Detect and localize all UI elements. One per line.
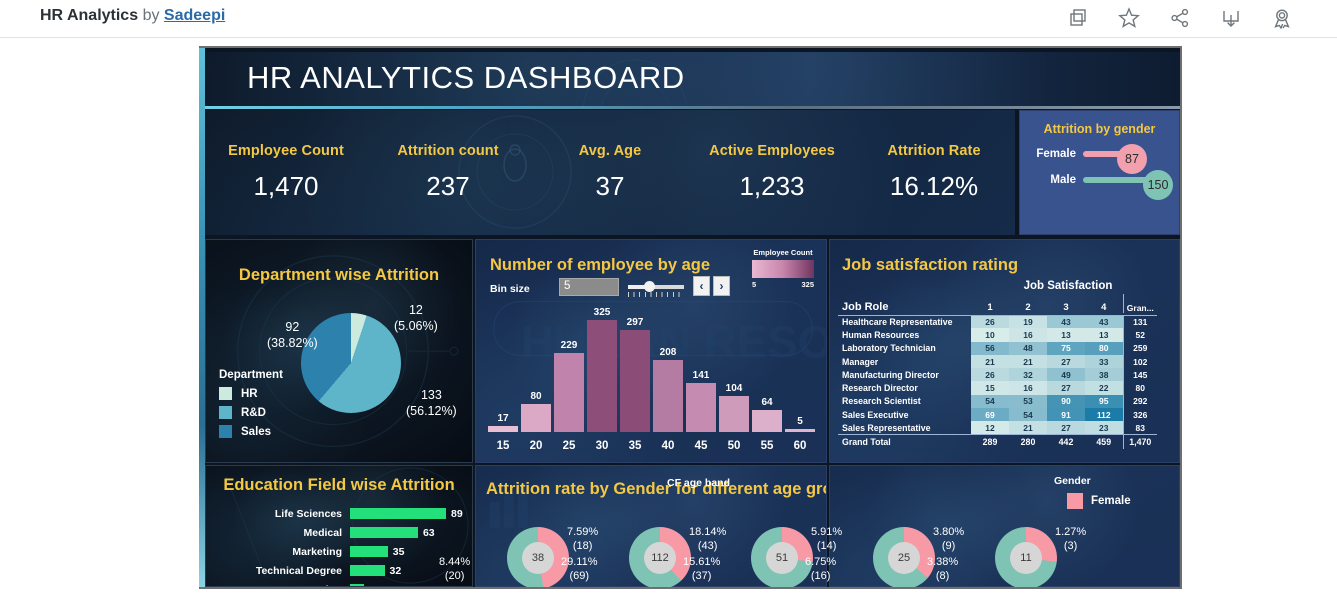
education-field-panel: Education Field wise Attrition Life Scie… [205,465,473,587]
kpi-value: 37 [596,171,625,202]
cell-score: 16 [1009,328,1047,341]
table-header-row: Job Role1234Gran... [838,294,1157,313]
education-value: 32 [390,565,402,577]
donuts-panel-title: Attrition rate by Gender for different a… [486,480,827,499]
employee-by-age-panel: HUMAN RESOURCES Number of employee by ag… [475,239,827,463]
legend-label: HR [241,388,258,400]
education-value: 63 [423,527,435,539]
education-label: Other [206,584,350,588]
cell-row-total: 145 [1123,368,1157,381]
bar-column[interactable]: 5 [785,416,815,432]
job-satisfaction-subtitle: Job Satisfaction [968,280,1168,292]
legend-item-hr[interactable]: HR [219,387,283,400]
gender-label: Male [1032,174,1076,186]
cell-score: 23 [1085,421,1123,434]
col-score-1: 1 [971,294,1009,313]
bar-x-label: 50 [719,440,749,452]
kpi-band: Employee Count 1,470 Attrition count 237… [205,110,1015,235]
kpi-avg-age: Avg. Age 37 [529,110,691,235]
bar-value-label: 141 [693,370,710,381]
prev-button[interactable]: ‹ [693,276,710,296]
dashboard-title: HR ANALYTICS DASHBOARD [247,60,685,96]
cell-score: 80 [1085,342,1123,355]
kpi-attrition-rate: Attrition Rate 16.12% [853,110,1015,235]
kpi-label: Employee Count [228,143,344,159]
bar-rect[interactable] [587,320,617,432]
bin-size-label: Bin size [490,283,530,295]
department-panel-title: Department wise Attrition [206,266,472,285]
cell-score: 49 [1047,368,1085,381]
cell-score: 43 [1085,315,1123,328]
table-row[interactable]: Laboratory Technician56487580259 [838,342,1157,355]
cell-score: 48 [1009,342,1047,355]
bar-column[interactable]: 208 [653,347,683,432]
education-value: 35 [393,546,405,558]
age-bar-chart[interactable]: 1715802022925325302973520840141451045064… [488,302,818,454]
cell-score: 54 [971,395,1009,408]
gender-legend-female[interactable]: Female [1067,493,1131,509]
table-row[interactable]: Healthcare Representative26194343131 [838,315,1157,328]
attrition-by-gender-card: Attrition by gender Female 87 Male 150 [1019,110,1180,235]
cell-row-total: 292 [1123,395,1157,408]
table-row[interactable]: Manufacturing Director26324938145 [838,368,1157,381]
pie-callout-hr: 12 (5.06%) [394,303,438,334]
education-row[interactable]: Medical63 [206,523,472,542]
bin-size-input[interactable]: 5 [559,278,619,296]
cell-score: 12 [971,421,1009,434]
slider-thumb[interactable] [644,281,655,292]
gender-value-bubble: 150 [1143,170,1173,200]
bar-column[interactable]: 104 [719,383,749,432]
bar-value-label: 297 [627,317,644,328]
cell-job-role: Grand Total [838,435,971,449]
cell-score: 43 [1047,315,1085,328]
table-grand-total-row: Grand Total2892804424591,470 [838,435,1157,449]
bar-column[interactable]: 17 [488,413,518,432]
bar-x-label: 55 [752,440,782,452]
next-button[interactable]: › [713,276,730,296]
star-icon[interactable] [1114,3,1144,33]
cell-score: 53 [1009,395,1047,408]
education-bar[interactable] [350,565,385,576]
cell-score: 26 [971,315,1009,328]
legend-item-rd[interactable]: R&D [219,406,283,419]
employee-count-legend: Employee Count 5 325 [748,248,818,289]
bin-size-slider[interactable] [628,279,684,295]
cell-score: 54 [1009,408,1047,421]
cell-score: 33 [1085,355,1123,368]
table-row[interactable]: Sales Representative1221272383 [838,421,1157,434]
bar-x-label: 15 [488,440,518,452]
page-title-by: by [143,7,160,24]
pie-callout-sales: 92 (38.82%) [267,320,318,351]
legend-swatch [219,406,232,419]
bar-rect[interactable] [521,404,551,432]
cell-score: 112 [1085,408,1123,421]
author-link[interactable]: Sadeepi [164,7,225,24]
cell-score: 38 [1085,368,1123,381]
cell-score: 27 [1047,355,1085,368]
education-bar-chart[interactable]: Life Sciences89Medical63Marketing35Techn… [206,504,472,587]
education-row[interactable]: Life Sciences89 [206,504,472,523]
cell-score: 15 [971,381,1009,394]
cell-job-role: Sales Executive [838,408,971,421]
col-job-role: Job Role [838,294,971,313]
bar-value-label: 104 [726,383,743,394]
education-panel-title: Education Field wise Attrition [206,476,472,495]
topbar-actions [1063,3,1297,33]
bar-rect[interactable] [488,426,518,432]
bar-x-label: 40 [653,440,683,452]
bar-x-label: 30 [587,440,617,452]
gender-legend-title: Gender [1054,475,1091,487]
legend-max: 325 [801,280,814,289]
cell-score: 19 [1009,315,1047,328]
cell-row-total: 259 [1123,342,1157,355]
slider-ticks [628,292,684,297]
cell-score: 13 [1085,328,1123,341]
cell-score: 22 [1085,381,1123,394]
legend-title: Department [219,369,283,381]
cell-job-role: Research Scientist [838,395,971,408]
cell-row-total: 102 [1123,355,1157,368]
cell-score-total: 289 [971,435,1009,449]
gender-row-male: Male [1032,174,1155,186]
legend-gradient [752,260,814,278]
legend-title: Employee Count [748,248,818,257]
cell-score: 95 [1085,395,1123,408]
cell-score: 21 [971,355,1009,368]
cell-score: 26 [971,368,1009,381]
bar-column[interactable]: 64 [752,397,782,432]
kpi-label: Active Employees [709,143,835,159]
cell-score: 13 [1047,328,1085,341]
kpi-label: Avg. Age [579,143,642,159]
legend-label: Female [1091,495,1131,507]
cell-job-role: Human Resources [838,328,971,341]
cell-row-total: 80 [1123,381,1157,394]
kpi-value: 1,470 [253,171,318,202]
cell-row-total: 83 [1123,421,1157,434]
cf-age-band-label: CF age band [667,477,730,489]
bar-rect[interactable] [653,360,683,432]
bar-value-label: 208 [660,347,677,358]
department-legend: Department HR R&D Sales [219,369,283,444]
col-score-3: 3 [1047,294,1085,313]
bar-value-label: 5 [797,416,803,427]
cell-score: 10 [971,328,1009,341]
dashboard-title-band: HR ANALYTICS DASHBOARD [205,52,1180,106]
education-label: Marketing [206,546,350,558]
cell-job-role: Laboratory Technician [838,342,971,355]
cell-row-total: 326 [1123,408,1157,421]
cell-score: 69 [971,408,1009,421]
cell-job-role: Manager [838,355,971,368]
app-topbar: HR Analytics by Sadeepi [0,0,1337,38]
table-row[interactable]: Manager21212733102 [838,355,1157,368]
cell-score: 56 [971,342,1009,355]
share-icon[interactable] [1165,3,1195,33]
title-divider [205,106,1180,109]
education-label: Life Sciences [206,508,350,520]
kpi-employee-count: Employee Count 1,470 [205,110,367,235]
award-icon[interactable] [1267,3,1297,33]
education-value: 11 [369,584,380,588]
download-icon[interactable] [1216,3,1246,33]
bar-column[interactable]: 325 [587,307,617,432]
education-row[interactable]: Other11 [206,580,472,587]
department-attrition-panel: Department wise Attrition 12 (5.06%) 92 … [205,239,473,463]
cell-job-role: Sales Representative [838,421,971,434]
bar-x-label: 35 [620,440,650,452]
hr-dashboard: HR ANALYTICS DASHBOARD Employee Count 1,… [199,46,1182,589]
kpi-value: 1,233 [739,171,804,202]
cell-score: 91 [1047,408,1085,421]
legend-min: 5 [752,280,756,289]
table-row[interactable]: Sales Executive695491112326 [838,408,1157,421]
legend-label: Sales [241,426,271,438]
cell-score-total: 280 [1009,435,1047,449]
table-row[interactable]: Research Director1516272280 [838,381,1157,394]
bar-column[interactable]: 141 [686,370,716,432]
cell-score: 75 [1047,342,1085,355]
duplicate-icon[interactable] [1063,3,1093,33]
bar-rect[interactable] [554,353,584,432]
bar-rect[interactable] [620,330,650,432]
gender-card-title: Attrition by gender [1020,122,1179,136]
kpi-value: 237 [426,171,469,202]
legend-swatch [219,425,232,438]
cell-score: 21 [1009,421,1047,434]
bar-column[interactable]: 297 [620,317,650,432]
education-label: Technical Degree [206,565,350,577]
legend-label: R&D [241,407,266,419]
attrition-by-gender-age-panel: Attrition rate by Gender for different a… [475,465,827,587]
table-row[interactable]: Research Scientist54539095292 [838,395,1157,408]
cell-score-total: 459 [1085,435,1123,449]
col-grand-total: Gran... [1123,294,1157,313]
page-title-text: HR Analytics [40,7,138,24]
bar-column[interactable]: 229 [554,340,584,432]
kpi-label: Attrition Rate [887,143,980,159]
cell-score: 21 [1009,355,1047,368]
cell-score-total: 442 [1047,435,1085,449]
gender-legend-panel [829,465,1180,587]
page-title: HR Analytics by Sadeepi [40,7,225,25]
bar-column[interactable]: 80 [521,391,551,432]
legend-scale: 5 325 [752,280,814,289]
bar-rect[interactable] [752,410,782,432]
gender-label: Female [1032,148,1076,160]
education-label: Medical [206,527,350,539]
bar-value-label: 229 [561,340,578,351]
legend-swatch [1067,493,1083,509]
cell-row-total: 52 [1123,328,1157,341]
education-value: 89 [451,508,463,520]
gender-value-bubble: 87 [1117,144,1147,174]
bar-value-label: 64 [761,397,772,408]
cell-row-total: 131 [1123,315,1157,328]
education-row[interactable]: Marketing35 [206,542,472,561]
legend-swatch [219,387,232,400]
cell-score: 27 [1047,421,1085,434]
cell-score: 27 [1047,381,1085,394]
col-score-2: 2 [1009,294,1047,313]
age-chart-title: Number of employee by age [490,256,710,275]
bar-rect[interactable] [719,396,749,432]
kpi-label: Attrition count [397,143,498,159]
col-score-4: 4 [1085,294,1123,313]
cell-job-role: Research Director [838,381,971,394]
cell-score: 32 [1009,368,1047,381]
bar-x-label: 20 [521,440,551,452]
education-bar[interactable] [350,584,364,587]
kpi-active-employees: Active Employees 1,233 [691,110,853,235]
legend-item-sales[interactable]: Sales [219,425,283,438]
education-bar[interactable] [350,546,388,557]
bar-rect[interactable] [785,429,815,432]
cell-job-role: Healthcare Representative [838,315,971,328]
bar-value-label: 325 [594,307,611,318]
cell-score: 16 [1009,381,1047,394]
kpi-list: Employee Count 1,470 Attrition count 237… [205,110,1015,235]
cell-score: 90 [1047,395,1085,408]
kpi-attrition-count: Attrition count 237 [367,110,529,235]
bar-value-label: 17 [497,413,508,424]
table-row[interactable]: Human Resources1016131352 [838,328,1157,341]
education-bar[interactable] [350,527,418,538]
cell-grand-total: 1,470 [1123,435,1157,449]
gender-row-female: Female [1032,148,1129,160]
cell-job-role: Manufacturing Director [838,368,971,381]
job-satisfaction-table[interactable]: Job Role1234Gran...Healthcare Representa… [838,294,1157,449]
job-satisfaction-panel: Job satisfaction rating Job Satisfaction… [829,239,1180,463]
bar-x-label: 60 [785,440,815,452]
kpi-value: 16.12% [890,171,978,202]
education-row[interactable]: Technical Degree32 [206,561,472,580]
education-bar[interactable] [350,508,446,519]
bar-x-label: 45 [686,440,716,452]
bar-x-label: 25 [554,440,584,452]
bar-value-label: 80 [530,391,541,402]
job-satisfaction-title: Job satisfaction rating [842,256,1018,275]
pie-callout-rd: 133 (56.12%) [406,388,457,419]
bar-rect[interactable] [686,383,716,432]
